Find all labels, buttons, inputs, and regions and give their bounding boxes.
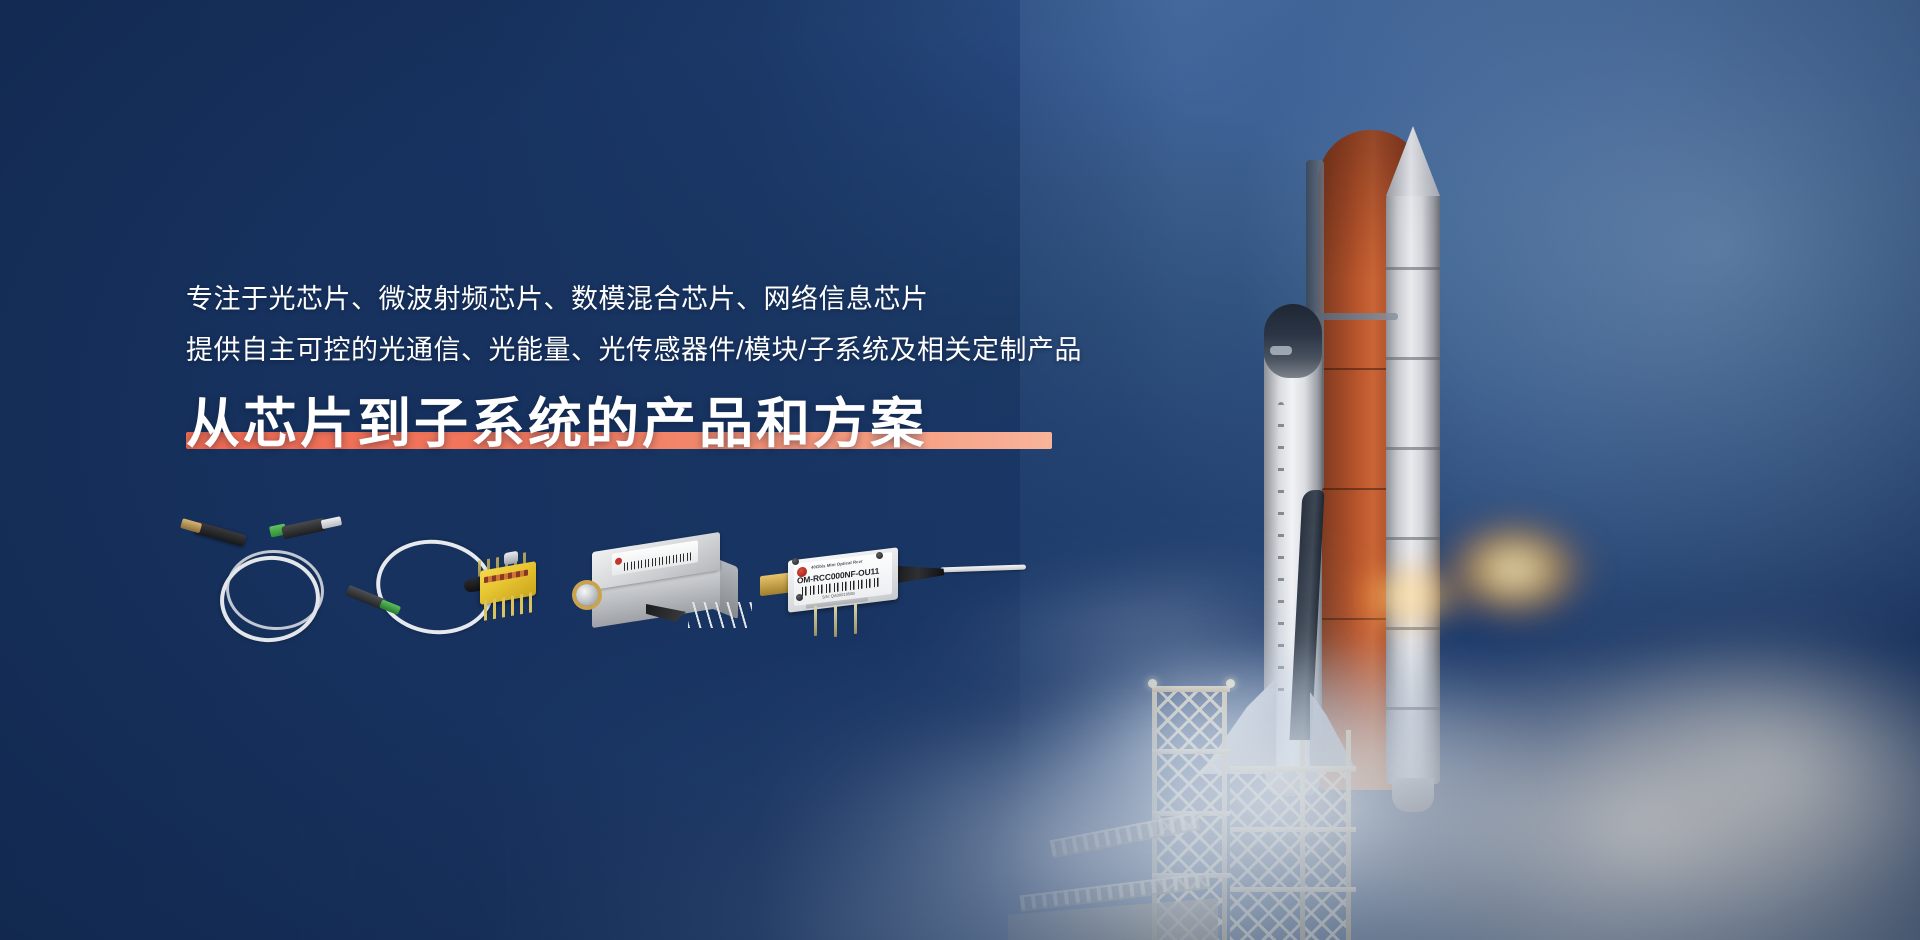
product-mini-optical-receiver: +1.8 GND RF 40Gb/s Mini Optical Rcvr OM-…: [766, 536, 1026, 656]
fiber-connector-right: [281, 518, 327, 540]
product-photo-row: +1.8 GND RF 40Gb/s Mini Optical Rcvr OM-…: [186, 520, 1196, 650]
module-label-title: [625, 555, 626, 560]
banner-headline-wrapper: 从芯片到子系统的产品和方案: [186, 394, 927, 454]
banner-headline: 从芯片到子系统的产品和方案: [186, 394, 927, 454]
product-butterfly-laser-module: [354, 534, 554, 650]
product-fiber-optic-patch-cord: [186, 520, 362, 640]
banner-copy: 专注于光芯片、微波射频芯片、数模混合芯片、网络信息芯片 提供自主可控的光通信、光…: [186, 278, 1266, 455]
fiber-connector-left: [193, 521, 246, 547]
vignette-overlay: [0, 0, 1920, 940]
module-pins: [688, 602, 752, 628]
sma-connector: [576, 584, 598, 606]
hero-banner: 专注于光芯片、微波射频芯片、数模混合芯片、网络信息芯片 提供自主可控的光通信、光…: [0, 0, 1920, 940]
banner-subtitle-line-2: 提供自主可控的光通信、光能量、光传感器件/模块/子系统及相关定制产品: [186, 329, 1266, 373]
fiber-strain-relief-boot: [891, 561, 944, 586]
product-rf-optical-module: [574, 542, 760, 652]
output-fiber: [940, 565, 1026, 573]
brand-logo-dot: [615, 557, 622, 565]
banner-subtitle-line-1: 专注于光芯片、微波射频芯片、数模混合芯片、网络信息芯片: [186, 278, 1266, 322]
